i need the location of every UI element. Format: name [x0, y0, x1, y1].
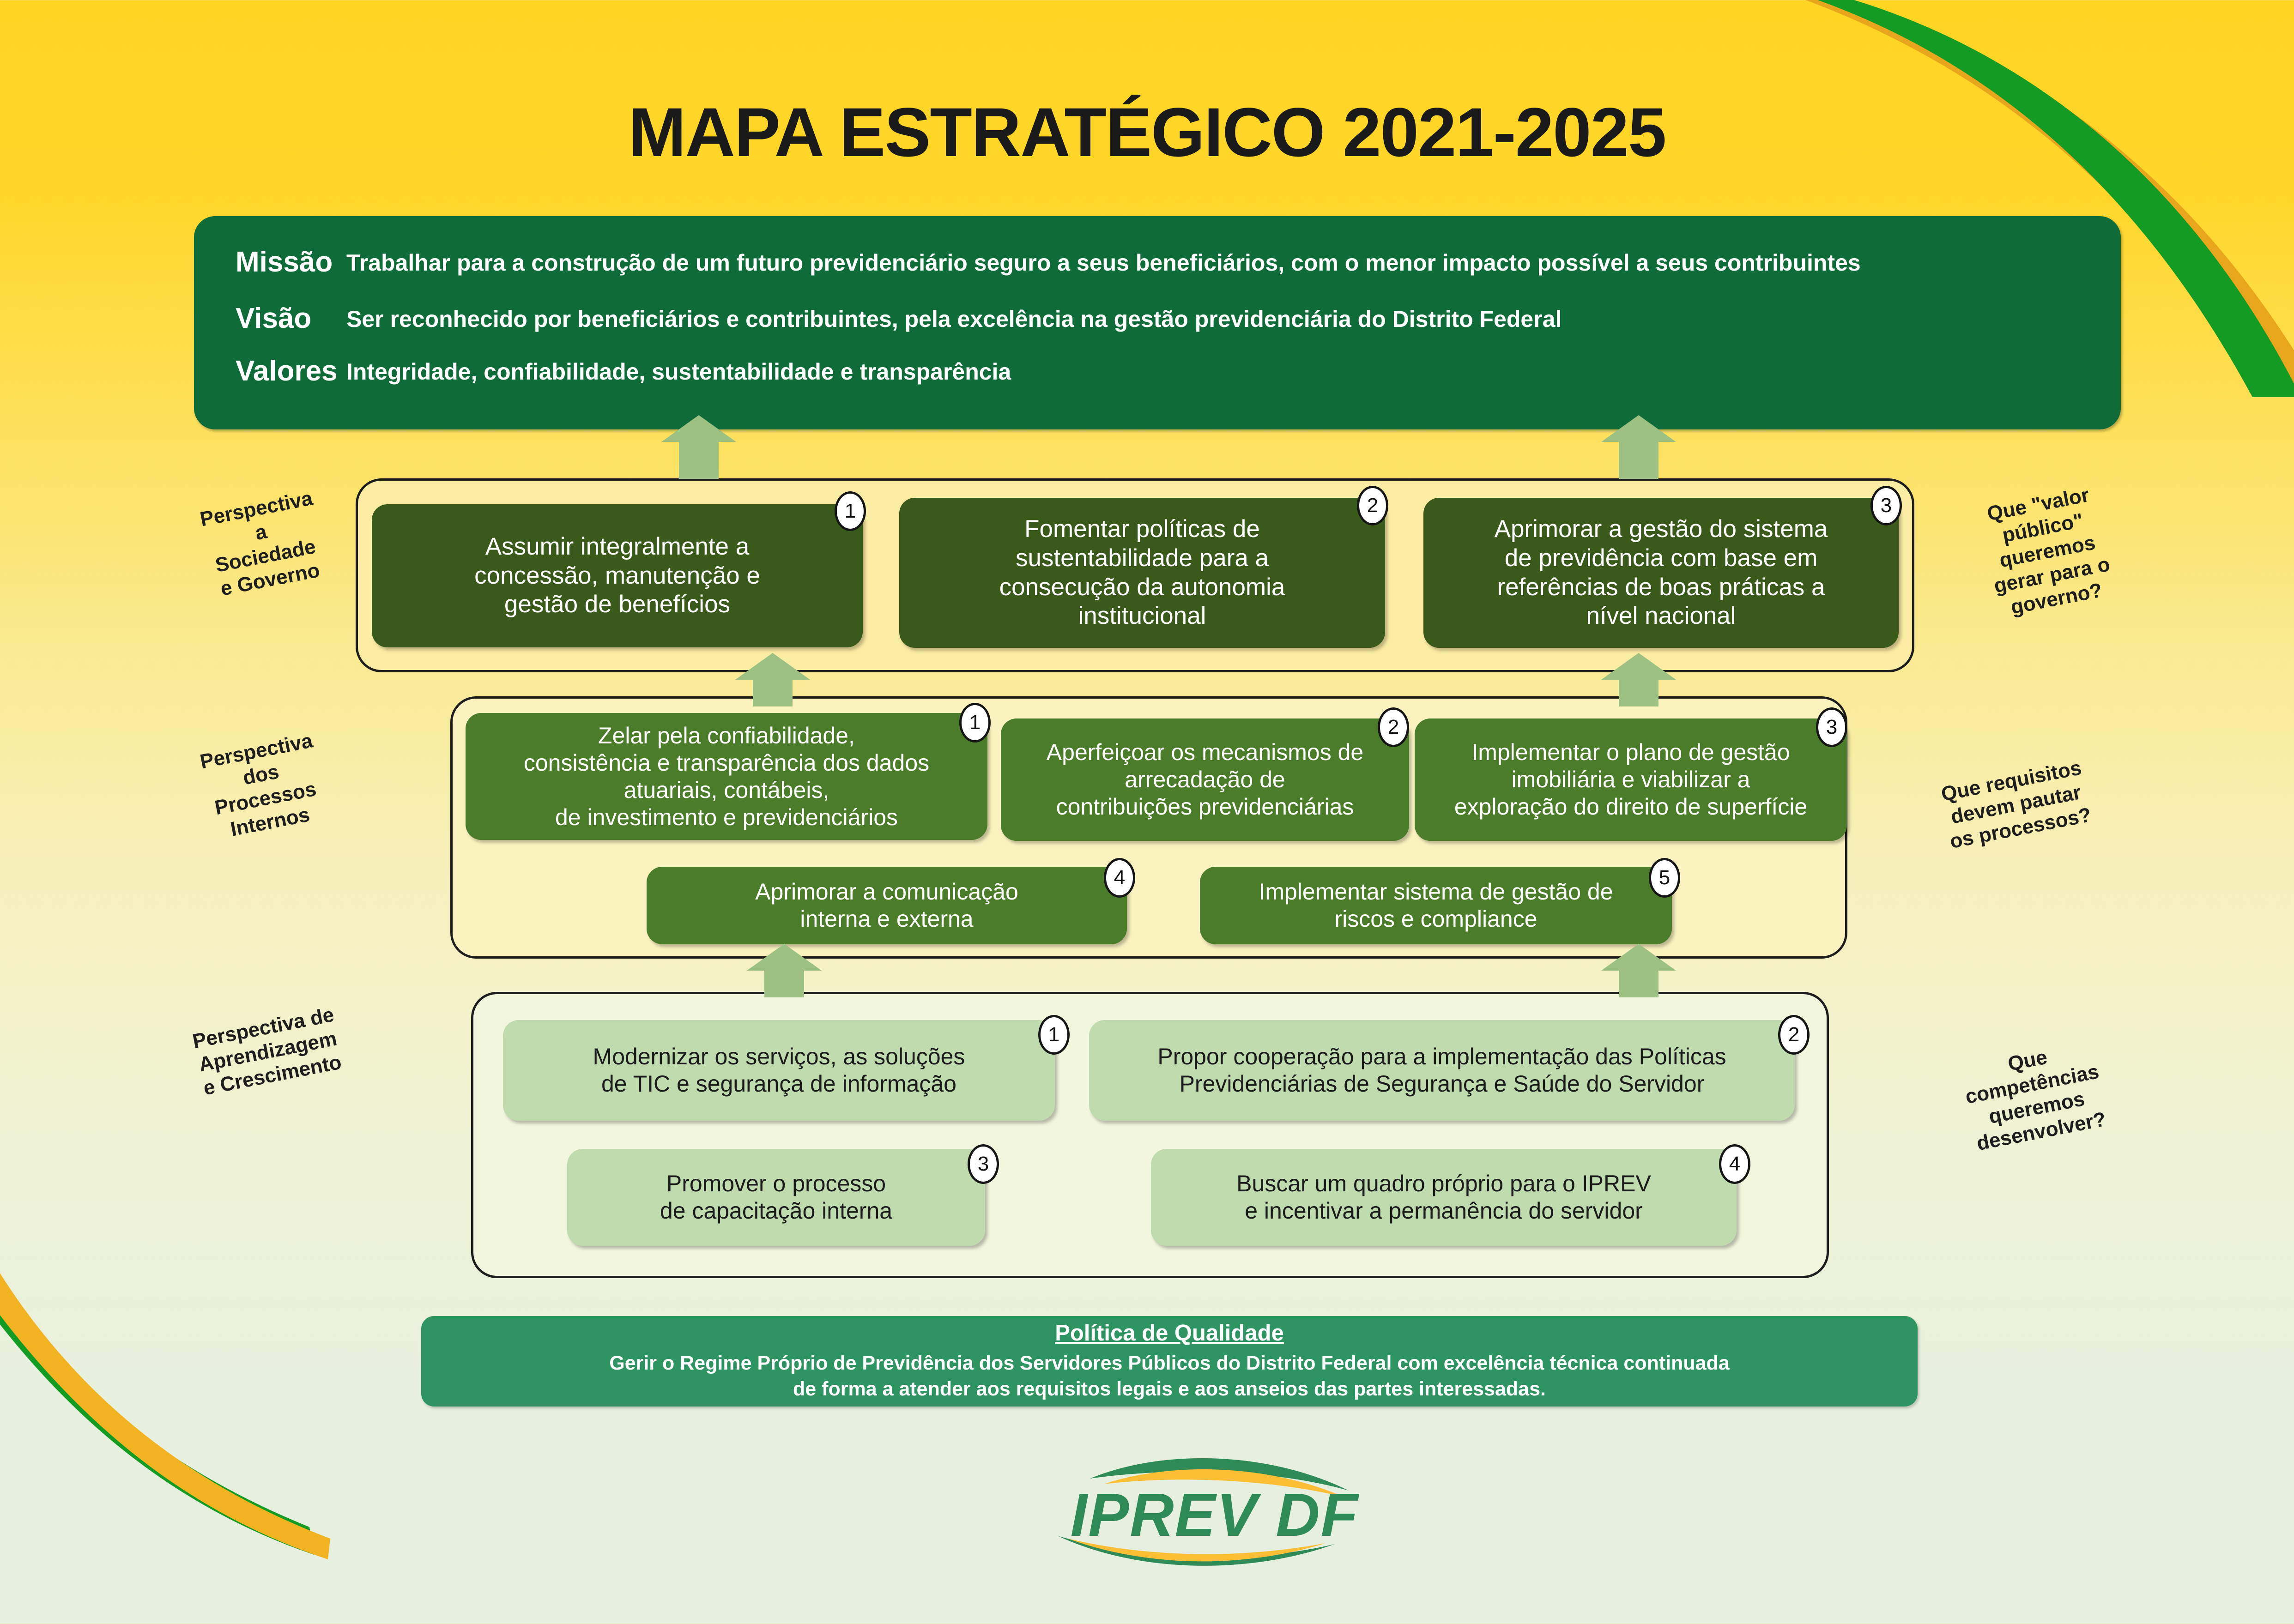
arrow-up-right-top	[1619, 441, 1658, 479]
objective-badge-p3-1: 1	[1038, 1015, 1070, 1055]
arrow-up-left-top	[679, 441, 719, 479]
arrow-up-right-lower	[1619, 679, 1658, 706]
badge-number: 1	[1048, 1023, 1059, 1046]
objective-text: Propor cooperação para a implementação d…	[1101, 1043, 1783, 1098]
objective-box-p2-4[interactable]: Aprimorar a comunicaçãointerna e externa	[647, 867, 1127, 944]
objective-badge-p1-2: 2	[1357, 486, 1388, 525]
perspective-question-internal-processes: Que requisitosdevem pautaros processos?	[1902, 749, 2129, 861]
values-label: Valores	[194, 355, 346, 387]
objective-box-p3-1[interactable]: Modernizar os serviços, as soluçõesde TI…	[503, 1020, 1055, 1121]
vision-text: Ser reconhecido por beneficiários e cont…	[346, 302, 1562, 332]
objective-text: Buscar um quadro próprio para o IPREVe i…	[1163, 1170, 1725, 1225]
objective-text: Implementar sistema de gestão deriscos e…	[1212, 878, 1660, 933]
objective-badge-p3-4: 4	[1719, 1144, 1750, 1184]
perspective-label-learning-growth: Perspectiva deAprendizageme Crescimento	[154, 996, 381, 1108]
quality-policy-title: Política de Qualidade	[1055, 1320, 1284, 1346]
decorative-swoosh-bottom-left	[0, 1236, 453, 1559]
objective-text: Aperfeiçoar os mecanismos dearrecadação …	[1013, 739, 1397, 821]
badge-number: 3	[1881, 494, 1892, 517]
objective-text: Aprimorar a gestão do sistemade previdên…	[1435, 515, 1887, 630]
objective-badge-p2-1: 1	[959, 703, 991, 743]
objective-badge-p2-2: 2	[1378, 707, 1409, 747]
objective-box-p2-1[interactable]: Zelar pela confiabilidade,consistência e…	[466, 713, 987, 840]
mission-vision-values-block: Missão Trabalhar para a construção de um…	[194, 216, 2121, 429]
quality-policy-banner: Política de Qualidade Gerir o Regime Pró…	[421, 1316, 1918, 1407]
values-text: Integridade, confiabilidade, sustentabil…	[346, 355, 1011, 385]
arrow-up-right-mid	[1619, 970, 1658, 997]
objective-text: Promover o processode capacitação intern…	[579, 1170, 973, 1225]
objective-text: Assumir integralmente aconcessão, manute…	[384, 532, 851, 619]
page-title: MAPA ESTRATÉGICO 2021-2025	[0, 92, 2294, 172]
badge-number: 3	[978, 1153, 989, 1176]
objective-box-p2-3[interactable]: Implementar o plano de gestãoimobiliária…	[1415, 718, 1847, 841]
perspective-label-internal-processes: PerspectivadosProcessosInternos	[159, 721, 368, 852]
objective-box-p3-3[interactable]: Promover o processode capacitação intern…	[567, 1149, 985, 1246]
vision-label: Visão	[194, 302, 346, 335]
values-row: Valores Integridade, confiabilidade, sus…	[194, 355, 2121, 387]
badge-number: 1	[845, 500, 856, 523]
objective-box-p2-2[interactable]: Aperfeiçoar os mecanismos dearrecadação …	[1001, 718, 1409, 841]
objective-badge-p3-2: 2	[1778, 1015, 1810, 1055]
badge-number: 4	[1114, 866, 1125, 889]
badge-number: 3	[1826, 716, 1837, 739]
mission-text: Trabalhar para a construção de um futuro…	[346, 246, 1861, 276]
objective-badge-p1-1: 1	[835, 491, 866, 531]
vision-row: Visão Ser reconhecido por beneficiários …	[194, 302, 2121, 335]
objective-text: Modernizar os serviços, as soluçõesde TI…	[515, 1043, 1043, 1098]
objective-box-p2-5[interactable]: Implementar sistema de gestão deriscos e…	[1200, 867, 1672, 944]
objective-box-p1-3[interactable]: Aprimorar a gestão do sistemade previdên…	[1423, 498, 1899, 648]
objective-badge-p3-3: 3	[968, 1144, 999, 1184]
perspective-label-society-government: PerspectivaaSociedadee Governo	[159, 479, 368, 610]
objective-badge-p1-3: 3	[1870, 486, 1902, 525]
badge-number: 2	[1788, 1023, 1799, 1046]
mission-label: Missão	[194, 246, 346, 278]
perspective-question-society-government: Que "valorpúblico"queremosgerar para ogo…	[1938, 474, 2156, 629]
objective-badge-p2-4: 4	[1104, 858, 1135, 898]
badge-number: 2	[1388, 716, 1399, 739]
badge-number: 2	[1367, 494, 1378, 517]
objective-box-p1-2[interactable]: Fomentar políticas desustentabilidade pa…	[899, 498, 1385, 648]
arrow-up-left-mid	[764, 970, 804, 997]
quality-policy-line-1: Gerir o Regime Próprio de Previdência do…	[609, 1351, 1730, 1376]
arrow-up-left-lower	[753, 679, 793, 706]
objective-text: Fomentar políticas desustentabilidade pa…	[911, 515, 1373, 630]
iprev-df-logo: IPREV DF	[1030, 1455, 1399, 1570]
quality-policy-line-2: de forma a atender aos requisitos legais…	[793, 1376, 1546, 1402]
objective-badge-p2-5: 5	[1649, 858, 1680, 898]
objective-box-p1-1[interactable]: Assumir integralmente aconcessão, manute…	[372, 504, 863, 647]
objective-text: Aprimorar a comunicaçãointerna e externa	[659, 878, 1115, 933]
objective-text: Zelar pela confiabilidade,consistência e…	[478, 722, 975, 831]
objective-box-p3-4[interactable]: Buscar um quadro próprio para o IPREVe i…	[1151, 1149, 1737, 1246]
badge-number: 5	[1659, 866, 1670, 889]
logo-text: IPREV DF	[1030, 1480, 1399, 1550]
badge-number: 4	[1729, 1153, 1740, 1176]
objective-box-p3-2[interactable]: Propor cooperação para a implementação d…	[1089, 1020, 1795, 1121]
perspective-question-learning-growth: Quecompetênciasqueremosdesenvolver?	[1919, 1028, 2150, 1164]
badge-number: 1	[969, 711, 981, 734]
mission-row: Missão Trabalhar para a construção de um…	[194, 246, 2121, 278]
objective-text: Implementar o plano de gestãoimobiliária…	[1427, 739, 1835, 821]
objective-badge-p2-3: 3	[1816, 707, 1847, 747]
